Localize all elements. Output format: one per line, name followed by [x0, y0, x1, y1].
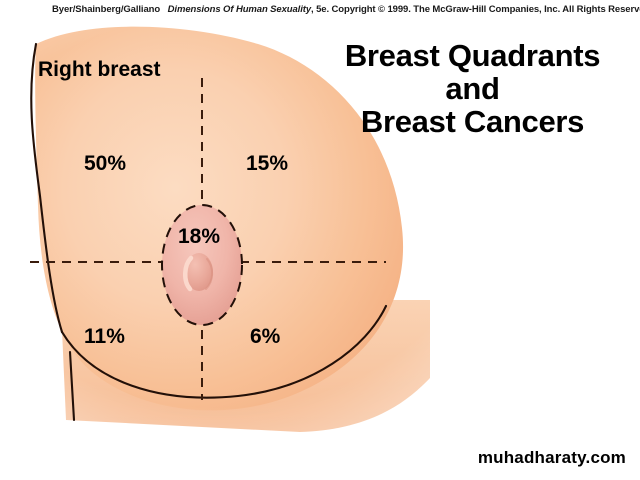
percent-upper-inner-quadrant: 15% — [246, 152, 288, 176]
right-breast-label: Right breast — [38, 58, 161, 82]
title-line-2: and — [310, 73, 635, 106]
percent-upper-outer-quadrant: 50% — [84, 152, 126, 176]
page-title: Breast Quadrants and Breast Cancers — [310, 40, 635, 139]
title-line-1: Breast Quadrants — [310, 40, 635, 73]
percent-lower-outer-quadrant: 11% — [84, 325, 125, 349]
percent-lower-inner-quadrant: 6% — [250, 325, 280, 349]
title-line-3: Breast Cancers — [310, 106, 635, 139]
diagram-page: Byer/Shainberg/Galliano Dimensions Of Hu… — [0, 0, 640, 480]
site-watermark: muhadharaty.com — [478, 448, 626, 468]
percent-central-areola: 18% — [178, 225, 220, 249]
